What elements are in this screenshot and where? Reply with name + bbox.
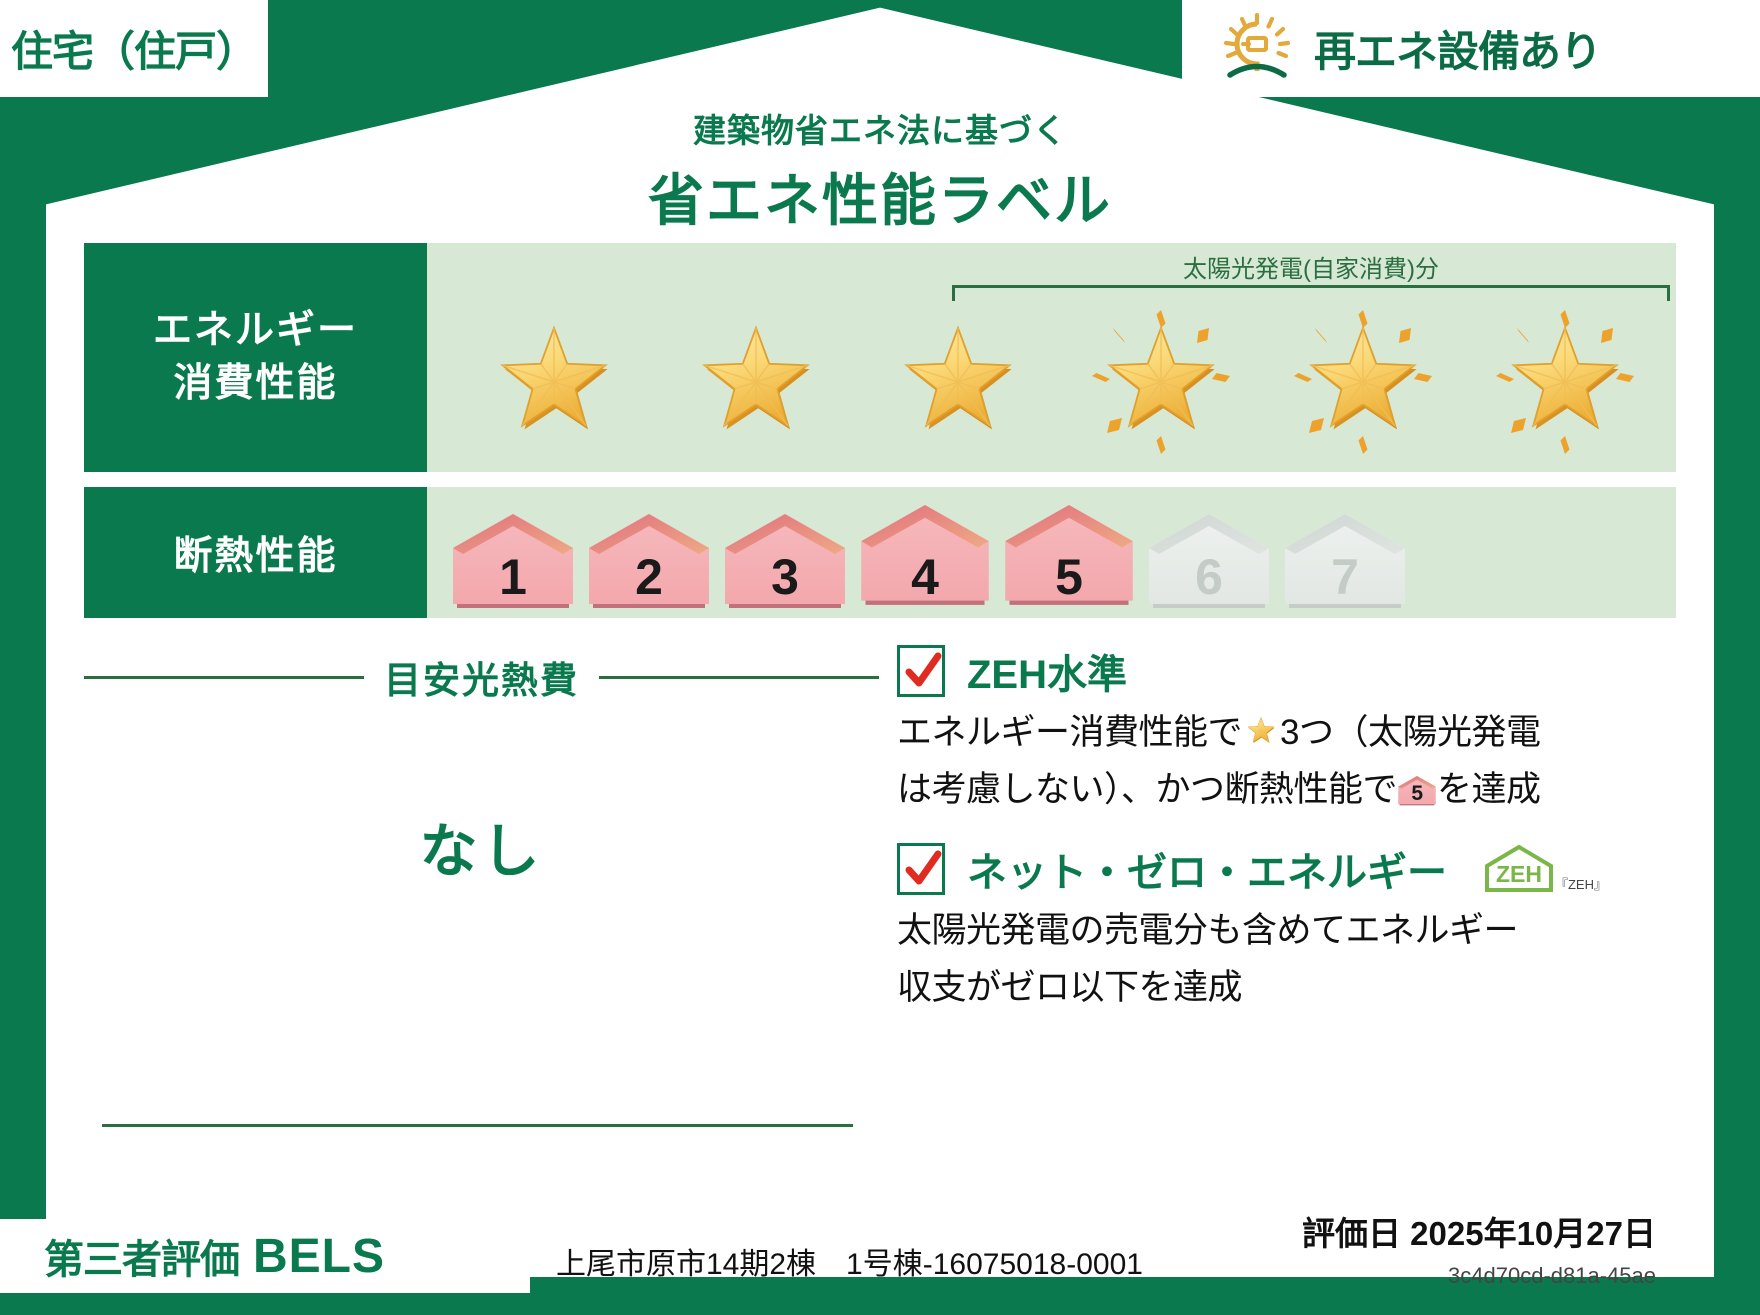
star-icon-2 <box>681 307 831 457</box>
star-icon-5 <box>1288 307 1438 457</box>
description-text: エネルギー消費性能で <box>897 713 1242 752</box>
insulation-performance-value: 1234567 <box>427 487 1676 618</box>
bottom-section: 目安光熱費 なし ZEH水準エネルギー消費性能で3つ（太陽光発電は考慮しない）、… <box>84 636 1676 1195</box>
description-text: 太陽光発電の売電分も含めてエネルギー <box>897 911 1518 950</box>
bels-label: BELS <box>253 1229 385 1284</box>
renewable-badge-label: 再エネ設備あり <box>1314 18 1601 79</box>
criterion-net-zero-energy[interactable]: ネット・ゼロ・エネルギーZEH『ZEH』 <box>897 840 1676 898</box>
solar-bracket-caption: 太陽光発電(自家消費)分 <box>952 249 1670 284</box>
insulation-level-number: 2 <box>585 552 713 602</box>
description-text: 収支がゼロ以下を達成 <box>897 968 1242 1007</box>
inline-house-number: 5 <box>1397 773 1437 809</box>
energy-performance-label: エネルギー 消費性能 <box>84 243 427 472</box>
insulation-level-number: 1 <box>449 552 577 602</box>
insulation-performance-row: 断熱性能 1234567 <box>84 487 1676 618</box>
description-text: 3つ（太陽光発電 <box>1280 713 1540 752</box>
insulation-level-scale: 1234567 <box>449 501 1666 612</box>
insulation-level-3: 3 <box>721 512 849 612</box>
divider-left <box>84 676 364 679</box>
utility-cost-title: 目安光熱費 <box>384 650 579 704</box>
building-identifier: 上尾市原市14期2棟 1号棟-16075018-0001 <box>556 1239 1143 1283</box>
criteria-block: ZEH水準エネルギー消費性能で3つ（太陽光発電は考慮しない）、かつ断熱性能で5を… <box>879 636 1676 1195</box>
description-text: は考慮しない）、かつ断熱性能で <box>897 770 1397 809</box>
insulation-level-number: 6 <box>1145 552 1273 602</box>
insulation-performance-label: 断熱性能 <box>84 487 427 618</box>
solar-sun-icon <box>1218 11 1296 86</box>
insulation-level-4: 4 <box>857 500 993 612</box>
checkbox-net-zero-energy[interactable] <box>897 843 945 895</box>
utility-cost-bottom-rule <box>102 1124 853 1127</box>
energy-performance-value: 太陽光発電(自家消費)分 <box>427 243 1676 472</box>
certificate-id: 3c4d70cd-d81a-45ae <box>1448 1263 1656 1289</box>
criterion-label: ZEH水準 <box>967 642 1127 700</box>
criterion-description-line: エネルギー消費性能で3つ（太陽光発電 <box>897 710 1676 757</box>
zeh-logo: ZEH『ZEH』 <box>1479 842 1607 896</box>
insulation-level-number: 7 <box>1281 552 1409 602</box>
star-icon-4 <box>1086 307 1236 457</box>
solar-bracket <box>952 285 1670 301</box>
star-icon-1 <box>479 307 629 457</box>
criterion-description-line: 太陽光発電の売電分も含めてエネルギー <box>897 908 1676 955</box>
third-party-label: 第三者評価 <box>44 1227 239 1285</box>
utility-cost-block: 目安光熱費 なし <box>84 636 879 1195</box>
checkbox-zeh-level[interactable] <box>897 645 945 697</box>
star-icon-6 <box>1490 307 1640 457</box>
star-icon-3 <box>883 307 1033 457</box>
inline-insulation-house-icon: 5 <box>1397 773 1437 809</box>
bels-logo-box: 第三者評価 BELS <box>0 1219 530 1293</box>
bels-energy-label: 住宅（住戸） 再エネ設備 <box>0 0 1760 1315</box>
star-rating <box>453 299 1666 464</box>
divider-right <box>599 676 879 679</box>
page-title: 省エネ性能ラベル <box>0 156 1760 237</box>
utility-cost-heading: 目安光熱費 <box>84 650 879 704</box>
insulation-level-7: 7 <box>1281 512 1409 612</box>
insulation-level-1: 1 <box>449 512 577 612</box>
insulation-level-2: 2 <box>585 512 713 612</box>
insulation-level-number: 4 <box>857 552 993 602</box>
insulation-level-number: 3 <box>721 552 849 602</box>
criterion-description-line: は考慮しない）、かつ断熱性能で5を達成 <box>897 767 1676 814</box>
svg-text:ZEH: ZEH <box>1496 861 1542 887</box>
utility-cost-value: なし <box>84 804 879 888</box>
evaluation-date: 評価日 2025年10月27日 <box>1302 1207 1656 1255</box>
inline-star-icon <box>1242 712 1280 750</box>
criterion-label: ネット・ゼロ・エネルギー <box>967 840 1447 898</box>
criterion-description-line: 収支がゼロ以下を達成 <box>897 965 1676 1012</box>
renewable-equipment-badge: 再エネ設備あり <box>1182 0 1760 97</box>
footer: 第三者評価 BELS 上尾市原市14期2棟 1号棟-16075018-0001 … <box>0 1195 1760 1315</box>
description-text: を達成 <box>1437 770 1541 809</box>
insulation-level-5: 5 <box>1001 500 1137 612</box>
title-block: 建築物省エネ法に基づく 省エネ性能ラベル <box>0 104 1760 237</box>
insulation-level-number: 5 <box>1001 552 1137 602</box>
energy-performance-row: エネルギー 消費性能 太陽光発電(自家消費)分 <box>84 243 1676 472</box>
svg-text:『ZEH』: 『ZEH』 <box>1555 877 1607 892</box>
criterion-zeh-level[interactable]: ZEH水準 <box>897 642 1676 700</box>
dwelling-type-badge: 住宅（住戸） <box>0 0 268 97</box>
insulation-level-6: 6 <box>1145 512 1273 612</box>
title-subtitle: 建築物省エネ法に基づく <box>0 104 1760 152</box>
